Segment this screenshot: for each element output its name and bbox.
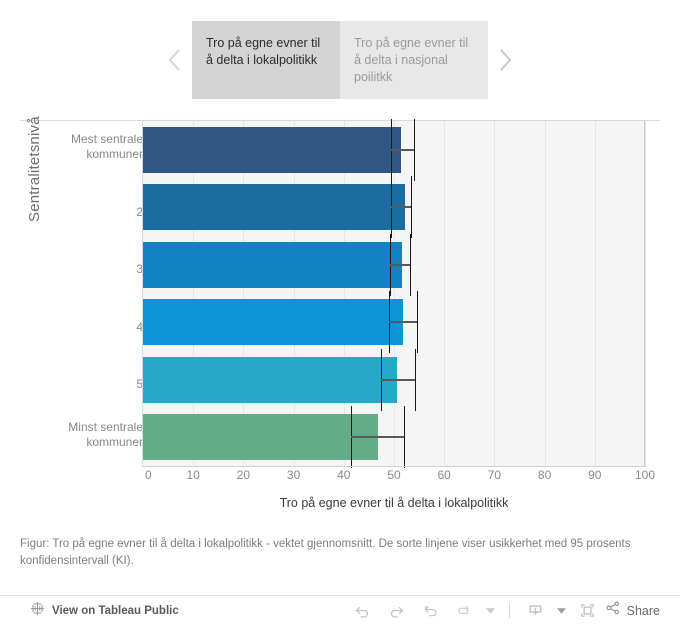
error-bar-connector: [389, 321, 417, 323]
error-bar-upper-whisker: [404, 406, 405, 468]
share-icon: [605, 600, 621, 621]
story-tab-navigation: Tro på egne evner til å delta i lokalpol…: [0, 0, 680, 120]
y-axis-tick-labels: Mest sentrale kommuner2345Minst sentrale…: [40, 126, 143, 466]
error-bar-upper-whisker: [411, 176, 412, 238]
y-axis-tick-label: Minst sentrale kommuner: [40, 420, 143, 450]
next-story-point-button[interactable]: [488, 0, 522, 120]
x-axis-line: [142, 466, 646, 467]
x-axis-tick-label: 30: [283, 468, 305, 482]
tableau-toolbar: View on Tableau Public: [0, 595, 680, 625]
x-axis-tick-label: 10: [182, 468, 204, 482]
x-axis-title: Tro på egne evner til å delta i lokalpol…: [143, 496, 645, 510]
bar[interactable]: [143, 357, 397, 403]
x-axis-tick-label: 0: [145, 468, 152, 482]
revert-icon[interactable]: [414, 596, 448, 625]
grid-line: [545, 121, 546, 466]
download-icon[interactable]: [519, 596, 553, 625]
share-button[interactable]: Share: [605, 600, 668, 621]
x-axis-tick-label: 70: [483, 468, 505, 482]
toolbar-divider: [509, 603, 510, 618]
grid-line: [444, 121, 445, 466]
toolbar-buttons: Share: [346, 596, 668, 625]
error-bar-connector: [390, 264, 410, 266]
x-axis-tick-label: 50: [383, 468, 405, 482]
error-bar-upper-whisker: [417, 291, 418, 353]
bar[interactable]: [143, 184, 405, 230]
fullscreen-icon[interactable]: [571, 596, 605, 625]
tableau-logo-icon: [30, 601, 45, 621]
view-on-tableau-public-link[interactable]: View on Tableau Public: [30, 601, 179, 621]
grid-line: [394, 121, 395, 466]
x-axis-tick-label: 60: [433, 468, 455, 482]
bar[interactable]: [143, 299, 403, 345]
view-on-tableau-public-label: View on Tableau Public: [52, 605, 179, 617]
undo-icon[interactable]: [346, 596, 380, 625]
prev-story-point-button[interactable]: [158, 0, 192, 120]
story-point-tab-1[interactable]: Tro på egne evner til å delta i nasjonal…: [340, 21, 488, 99]
x-axis-tick-label: 90: [584, 468, 606, 482]
x-axis-tick-label: 40: [333, 468, 355, 482]
refresh-icon[interactable]: [448, 596, 482, 625]
bar[interactable]: [143, 127, 401, 173]
share-label: Share: [627, 604, 660, 618]
grid-line: [494, 121, 495, 466]
error-bar-connector: [381, 379, 415, 381]
y-axis-tick-label: 2: [40, 205, 143, 220]
plot-area: [143, 121, 645, 466]
y-axis-tick-label: 3: [40, 262, 143, 277]
grid-line: [595, 121, 596, 466]
error-bar-connector: [391, 149, 414, 151]
x-axis-tick-label: 20: [232, 468, 254, 482]
error-bar-upper-whisker: [414, 119, 415, 181]
error-bar-connector: [391, 206, 411, 208]
refresh-dropdown-caret-down-icon[interactable]: [482, 596, 500, 625]
x-axis-tick-label: 80: [534, 468, 556, 482]
redo-icon[interactable]: [380, 596, 414, 625]
story-points: Tro på egne evner til å delta i lokalpol…: [192, 21, 488, 99]
x-axis-tick-label: 100: [634, 468, 656, 482]
x-axis-tick-labels: 0102030405060708090100: [0, 468, 660, 486]
download-dropdown-caret-down-icon[interactable]: [553, 596, 571, 625]
error-bar-connector: [351, 436, 404, 438]
error-bar-upper-whisker: [410, 234, 411, 296]
bar[interactable]: [143, 414, 378, 460]
y-axis-tick-label: 5: [40, 377, 143, 392]
error-bar-upper-whisker: [415, 349, 416, 411]
figure-caption: Figur: Tro på egne evner til å delta i l…: [20, 536, 660, 570]
story-point-tab-0[interactable]: Tro på egne evner til å delta i lokalpol…: [192, 21, 340, 99]
y-axis-tick-label: Mest sentrale kommuner: [40, 132, 143, 162]
grid-line: [645, 121, 646, 466]
bar[interactable]: [143, 242, 402, 288]
y-axis-tick-label: 4: [40, 320, 143, 335]
